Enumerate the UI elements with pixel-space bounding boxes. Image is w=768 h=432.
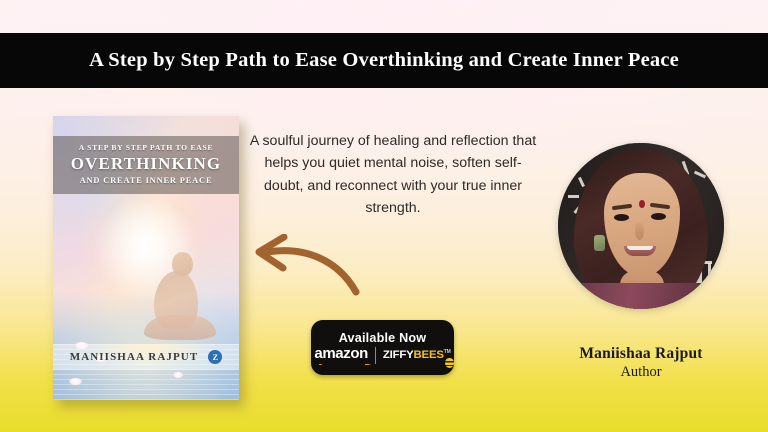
cover-sub-title: AND CREATE INNER PEACE bbox=[59, 176, 233, 185]
book-cover[interactable]: A STEP BY STEP PATH TO EASE OVERTHINKING… bbox=[53, 116, 239, 400]
portrait-garment bbox=[580, 283, 706, 309]
bindi-icon bbox=[639, 200, 645, 208]
trademark-mark: TM bbox=[444, 349, 451, 355]
ziffy-wordmark: ZIFFY bbox=[383, 349, 414, 361]
bees-wordmark: BEES bbox=[414, 349, 444, 361]
store-logos: amazon ZIFFYBEESTM bbox=[314, 346, 450, 365]
store-divider bbox=[375, 347, 376, 364]
amazon-store-link[interactable]: amazon bbox=[314, 346, 367, 365]
badge-heading: Available Now bbox=[339, 331, 427, 345]
availability-badge[interactable]: Available Now amazon ZIFFYBEESTM bbox=[311, 320, 454, 375]
title-banner: A Step by Step Path to Ease Overthinking… bbox=[0, 33, 768, 88]
author-portrait bbox=[558, 143, 724, 309]
bee-icon bbox=[445, 358, 454, 368]
book-description: A soulful journey of healing and reflect… bbox=[246, 130, 540, 219]
lotus-icon bbox=[69, 378, 82, 385]
publisher-logo-icon: Z bbox=[208, 350, 222, 364]
cover-author-band: MANIISHAA RAJPUT Z bbox=[53, 344, 239, 370]
cover-title-band: A STEP BY STEP PATH TO EASE OVERTHINKING… bbox=[53, 136, 239, 194]
ziffybees-store-link[interactable]: ZIFFYBEESTM bbox=[383, 349, 451, 361]
cover-pre-title: A STEP BY STEP PATH TO EASE bbox=[59, 143, 233, 152]
author-role: Author bbox=[556, 364, 726, 381]
author-caption: Maniishaa Rajput Author bbox=[556, 345, 726, 381]
page-title: A Step by Step Path to Ease Overthinking… bbox=[89, 49, 679, 72]
cover-author-name: MANIISHAA RAJPUT bbox=[70, 351, 199, 363]
curved-arrow-icon bbox=[243, 234, 361, 301]
lotus-icon bbox=[173, 372, 183, 378]
author-name: Maniishaa Rajput bbox=[556, 345, 726, 363]
earring-icon bbox=[594, 235, 605, 251]
cover-main-title: OVERTHINKING bbox=[59, 154, 233, 174]
amazon-swoosh-icon bbox=[319, 358, 372, 365]
